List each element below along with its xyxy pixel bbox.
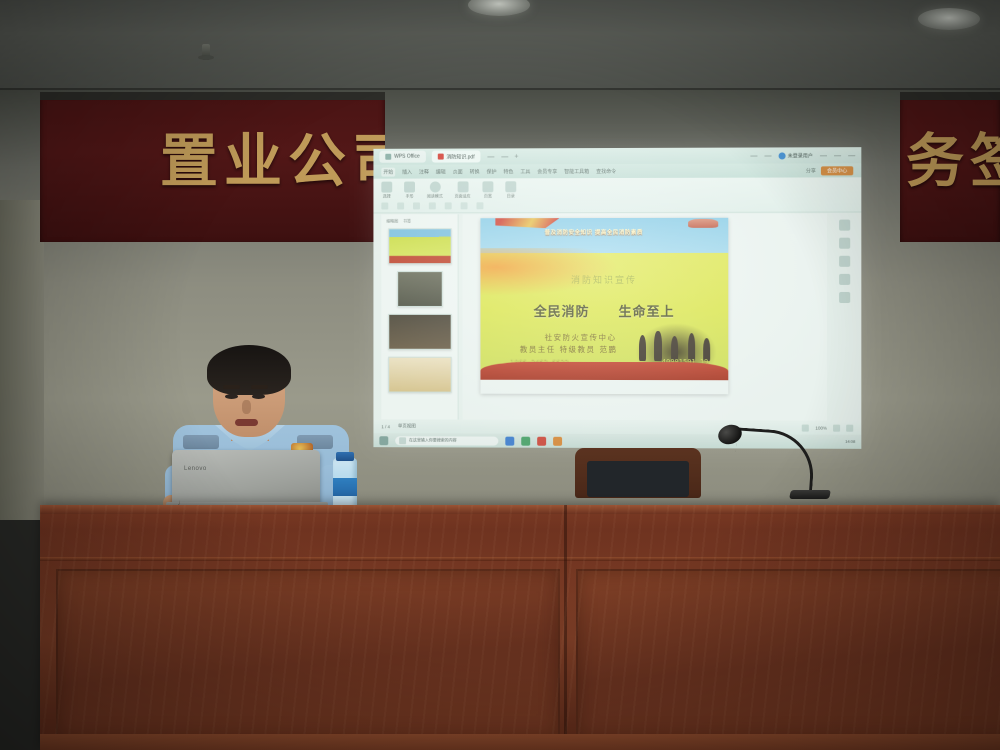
read-mode-icon [429,181,440,192]
laptop-brand-label: Lenovo [184,466,207,472]
zoom-level[interactable]: 100% [815,425,827,430]
laptop-lid: Lenovo [172,450,320,506]
ribbon-button-5[interactable]: 目录 [505,181,516,199]
menu-item-3[interactable]: 编辑 [436,168,446,175]
search-icon[interactable] [839,220,850,231]
new-tab-button[interactable]: + [514,153,518,160]
zoom-in-icon[interactable] [833,424,840,431]
microphone-base [789,490,831,499]
toolbar-mini-icon[interactable] [397,202,404,209]
start-button[interactable] [379,436,388,445]
ribbon-label-5: 目录 [507,193,515,199]
menu-item-5[interactable]: 转换 [470,168,480,175]
slide-page-1: 普及消防安全知识 提高全民消防素质 消防知识宣传 全民消防 生命至上 社安防火宣… [480,218,728,394]
tab-bookmarks[interactable]: 书签 [403,218,411,224]
ribbon-button-4[interactable]: 页宽 [482,181,493,199]
taskbar-icon-wps[interactable] [537,436,546,445]
slide-watermark: 消防知识宣传 [571,273,637,286]
menu-item-2[interactable]: 注释 [419,168,429,175]
headline-right: 生命至上 [619,305,675,320]
account-name: 未登录用户 [788,152,813,159]
thumbnail-panel: 缩略图 书签 1 2 3 4 [381,214,458,419]
downlight-icon [918,8,980,30]
bottle-cap [336,452,354,461]
menu-item-9[interactable]: 会员专享 [537,168,557,175]
ribbon-label-4: 页宽 [484,193,492,199]
firefighter-figure [639,335,647,362]
ribbon-button-0[interactable]: 选择 [381,182,392,200]
ribbon-label-3: 页面适应 [455,193,471,199]
taskbar-search-placeholder: 在这里输入你要搜索的内容 [409,437,457,443]
eye-left [225,394,238,399]
slide-body: 消防知识宣传 全民消防 生命至上 社安防火宣传中心 教员主任 特级教员 范鹏 [480,253,728,380]
presenter-hair [207,345,291,395]
banner-edge [900,92,1000,100]
fit-page-icon [457,181,468,192]
tab-thumbnails[interactable]: 缩略图 [386,218,398,224]
ribbon-label-0: 选择 [383,194,391,200]
bottle-label [333,478,357,496]
tab-document[interactable]: 消防知识.pdf [432,150,481,162]
menu-item-4[interactable]: 页面 [453,168,463,175]
eyebrow-left [223,385,240,389]
ceiling [0,0,1000,96]
document-viewport[interactable]: 普及消防安全知识 提高全民消防素质 消防知识宣传 全民消防 生命至上 社安防火宣… [463,214,827,421]
undo-icon[interactable] [500,152,508,160]
taskbar-icon-browser[interactable] [521,436,530,445]
chair-cushion [587,461,689,497]
downlight-icon [468,0,530,16]
zoom-out-icon[interactable] [802,424,809,431]
member-center-button[interactable]: 会员中心 [821,166,853,175]
pdf-file-icon [438,154,444,160]
menu-item-6[interactable]: 保护 [487,168,497,175]
close-button[interactable] [847,151,855,159]
window-titlebar: WPS Office 消防知识.pdf + 未登录用户 [373,147,861,165]
menu-item-7[interactable]: 特色 [503,168,513,175]
outline-icon [505,181,516,192]
floor [40,734,1000,750]
toolbar-mini-icon[interactable] [413,202,420,209]
flag-graphic [495,218,559,228]
ribbon-toolbar: 选择 手形 阅读模式 页面适应 [373,177,861,213]
minimize-button[interactable] [819,151,827,159]
taskbar-clock[interactable]: 14:08 [845,440,855,444]
ribbon-button-3[interactable]: 页面适应 [455,181,471,199]
comment-icon[interactable] [839,238,850,249]
eye-right [252,394,265,399]
right-tool-rail [833,214,855,421]
sun-graphic [480,248,618,296]
save-icon[interactable] [487,152,495,160]
menu-item-1[interactable]: 插入 [402,168,412,175]
tab-home-label: WPS Office [394,154,419,160]
page-indicator[interactable]: 1 / 4 [381,424,390,429]
account-chip[interactable]: 未登录用户 [779,152,813,159]
toolbar-mini-icon[interactable] [445,202,452,209]
menubar-right-group: 分享 会员中心 [806,166,853,175]
podium-desk [40,505,1000,750]
wall-banner-left: 置业公司高 [40,92,385,242]
thumbnail-page-2[interactable]: 2 [397,271,443,307]
taskbar-icon-explorer[interactable] [505,436,514,445]
ribbon-button-1[interactable]: 手形 [404,182,415,200]
hand-icon [404,182,415,193]
menu-item-10[interactable]: 智能工具箱 [564,168,589,175]
fullscreen-icon[interactable] [846,424,853,431]
status-bar: 1 / 4 单页视图 100% [373,419,861,434]
eyebrow-right [251,385,268,389]
maximize-button[interactable] [833,151,841,159]
fit-width-icon [482,181,493,192]
banner-right-text: 务签 [906,114,1000,198]
wood-grain [40,505,1000,750]
highlight-icon[interactable] [839,274,850,285]
share-icon[interactable] [839,292,850,303]
search-icon [399,437,406,444]
share-button[interactable]: 分享 [806,167,816,174]
thumbnail-page-4[interactable]: 4 [388,357,451,393]
epaulet-left [183,435,219,449]
status-right-group: 100% [802,424,853,431]
thumbnail-page-1[interactable]: 1 [388,228,451,264]
taskbar-search-input[interactable]: 在这里输入你要搜索的内容 [395,436,498,445]
sprinkler-icon [202,44,210,60]
tab-wps-home[interactable]: WPS Office [379,151,425,163]
slide-headline: 全民消防 生命至上 [534,301,675,320]
wall-banner-right: 务签 [900,92,1000,242]
toolbar-mini-icon[interactable] [381,203,388,210]
menu-bar: 开始 插入 注释 编辑 页面 转换 保护 特色 工具 会员专享 智能工具箱 查找… [373,163,861,178]
slide-top-banner: 普及消防安全知识 提高全民消防素质 [545,228,643,236]
bookmark-icon[interactable] [839,256,850,267]
projection-screen: WPS Office 消防知识.pdf + 未登录用户 [373,147,861,449]
person-graphic [688,219,718,228]
cursor-icon [381,182,392,193]
ribbon-button-2[interactable]: 阅读模式 [427,181,443,199]
help-icon[interactable] [750,152,758,160]
banner-edge [40,92,385,100]
firefighter-figure [654,331,662,361]
laptop: Lenovo [172,450,320,512]
slide-presenter-line: 教员主任 特级教员 范鹏 [520,344,618,355]
headline-left: 全民消防 [534,305,590,320]
ribbon-row-primary: 选择 手形 阅读模式 页面适应 [373,177,861,202]
ribbon-label-1: 手形 [406,193,414,199]
slide-org-line: 社安防火宣传中心 [545,332,617,343]
avatar [779,152,786,159]
settings-icon[interactable] [764,151,772,159]
photo-scene: 置业公司高 务签 WPS Office 消防知识.pdf + [0,0,1000,750]
nose [242,400,251,414]
taskbar-icon-app[interactable] [553,436,562,445]
menu-item-8[interactable]: 工具 [520,168,530,175]
command-search-input[interactable]: 查找命令 [596,167,616,174]
menu-item-0[interactable]: 开始 [381,167,395,176]
thumbnail-tabs: 缩略图 书签 [384,218,454,224]
toolbar-mini-icon[interactable] [476,202,483,209]
mouth [235,419,258,426]
view-mode-label[interactable]: 单页视图 [398,423,416,429]
wps-office-window: WPS Office 消防知识.pdf + 未登录用户 [373,147,861,449]
thumbnail-page-3[interactable]: 3 [388,314,451,350]
banner-left-text: 置业公司高 [160,114,385,198]
toolbar-mini-icon[interactable] [461,202,468,209]
tab-document-label: 消防知识.pdf [446,153,474,160]
wps-logo-icon [385,154,391,160]
chair [575,448,701,510]
toolbar-mini-icon[interactable] [429,202,436,209]
side-wall [0,200,44,520]
ribbon-label-2: 阅读模式 [427,193,443,199]
slide-red-base [480,362,728,380]
firefighter-figure [688,333,696,361]
titlebar-right-group: 未登录用户 [750,151,855,159]
ribbon-row-secondary [373,201,861,209]
